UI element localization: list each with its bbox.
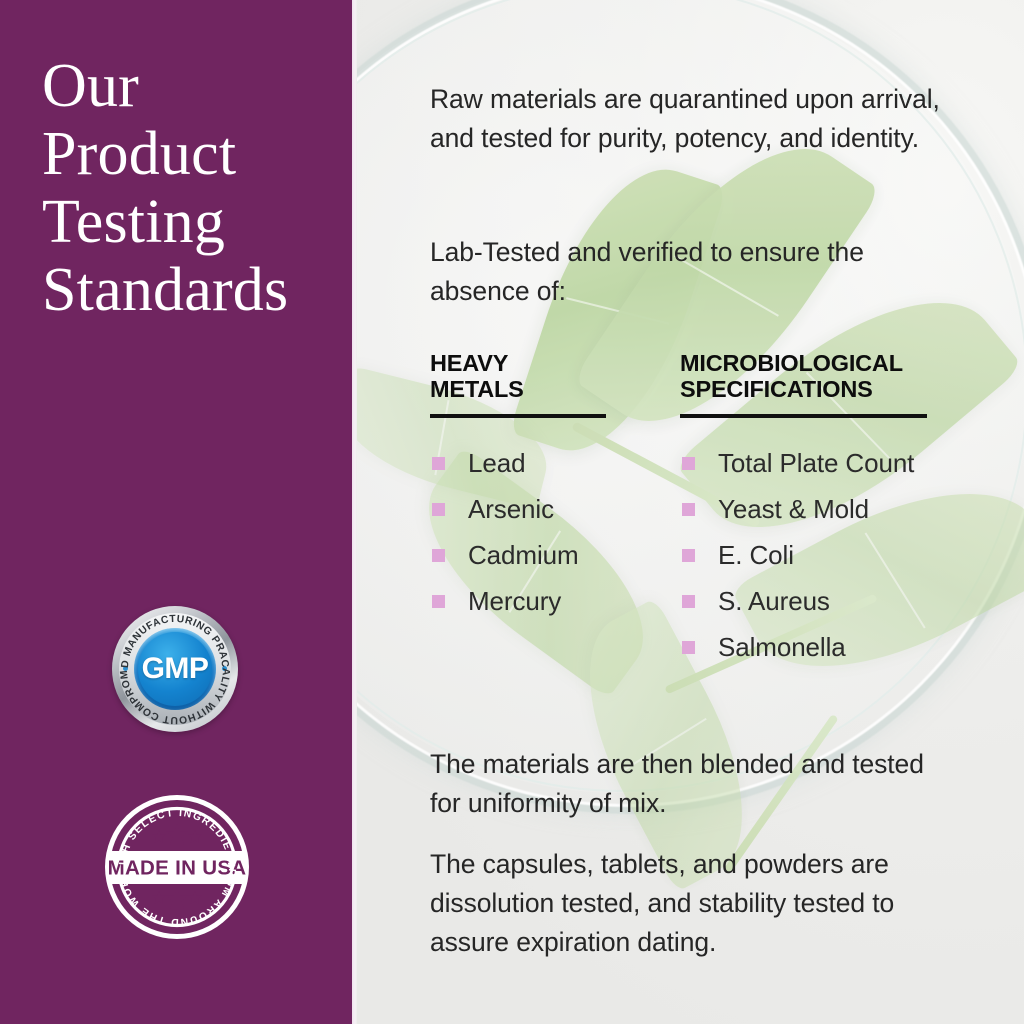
list-item: S. Aureus <box>680 578 975 624</box>
list-item-label: Salmonella <box>718 632 846 662</box>
list-item-label: Lead <box>468 448 525 478</box>
list-item: Yeast & Mold <box>680 486 975 532</box>
heavy-metals-list: Lead Arsenic Cadmium Mercury <box>430 440 680 624</box>
microbiological-list: Total Plate Count Yeast & Mold E. Coli S… <box>680 440 975 670</box>
made-in-usa-badge: MADE IN USA WITH SELECT INGREDIENTS FROM… <box>103 793 251 941</box>
page-title-line-2: Product <box>42 120 342 188</box>
column-heading-heavy-metals: HEAVY METALS <box>430 350 680 402</box>
column-heading-line-1: HEAVY <box>430 350 680 376</box>
product-testing-standards-poster: Our Product Testing Standards GOOD MANUF… <box>0 0 1024 1024</box>
list-item-label: Arsenic <box>468 494 554 524</box>
square-bullet-icon <box>432 595 445 608</box>
list-item-label: S. Aureus <box>718 586 830 616</box>
square-bullet-icon <box>682 503 695 516</box>
column-heading-line-2: SPECIFICATIONS <box>680 376 975 402</box>
paragraph-dissolution-stability: The capsules, tablets, and powders are d… <box>430 845 950 962</box>
square-bullet-icon <box>432 503 445 516</box>
column-heading-microbiological: MICROBIOLOGICAL SPECIFICATIONS <box>680 350 975 402</box>
column-heading-line-1: MICROBIOLOGICAL <box>680 350 975 376</box>
content-column: Raw materials are quarantined upon arriv… <box>430 0 975 1024</box>
list-item-label: Cadmium <box>468 540 579 570</box>
list-item-label: Total Plate Count <box>718 448 914 478</box>
gmp-certification-badge: GOOD MANUFACTURING PRACTICE QUALITY WITH… <box>112 606 238 732</box>
list-item: Total Plate Count <box>680 440 975 486</box>
column-heading-line-2: METALS <box>430 376 680 402</box>
square-bullet-icon <box>432 457 445 470</box>
paragraph-raw-materials: Raw materials are quarantined upon arriv… <box>430 80 962 158</box>
list-item: Arsenic <box>430 486 680 532</box>
list-item: Cadmium <box>430 532 680 578</box>
square-bullet-icon <box>432 549 445 562</box>
list-item: Salmonella <box>680 624 975 670</box>
column-rule <box>680 414 927 418</box>
list-item-label: Yeast & Mold <box>718 494 869 524</box>
list-item: E. Coli <box>680 532 975 578</box>
list-item-label: Mercury <box>468 586 561 616</box>
list-item: Lead <box>430 440 680 486</box>
square-bullet-icon <box>682 595 695 608</box>
page-title-line-3: Testing <box>42 188 342 256</box>
column-heavy-metals: HEAVY METALS Lead Arsenic Cadmium <box>430 350 680 624</box>
gmp-center-label: GMP <box>138 632 212 706</box>
list-item: Mercury <box>430 578 680 624</box>
page-title-line-4: Standards <box>42 256 342 324</box>
square-bullet-icon <box>682 457 695 470</box>
page-title-line-1: Our <box>42 52 342 120</box>
column-rule <box>430 414 606 418</box>
list-item-label: E. Coli <box>718 540 794 570</box>
square-bullet-icon <box>682 641 695 654</box>
panel-divider <box>352 0 357 1024</box>
paragraph-blended-uniformity: The materials are then blended and teste… <box>430 745 950 823</box>
paragraph-lab-tested: Lab-Tested and verified to ensure the ab… <box>430 233 970 311</box>
column-microbiological-specifications: MICROBIOLOGICAL SPECIFICATIONS Total Pla… <box>680 350 975 670</box>
page-title: Our Product Testing Standards <box>42 52 342 324</box>
square-bullet-icon <box>682 549 695 562</box>
